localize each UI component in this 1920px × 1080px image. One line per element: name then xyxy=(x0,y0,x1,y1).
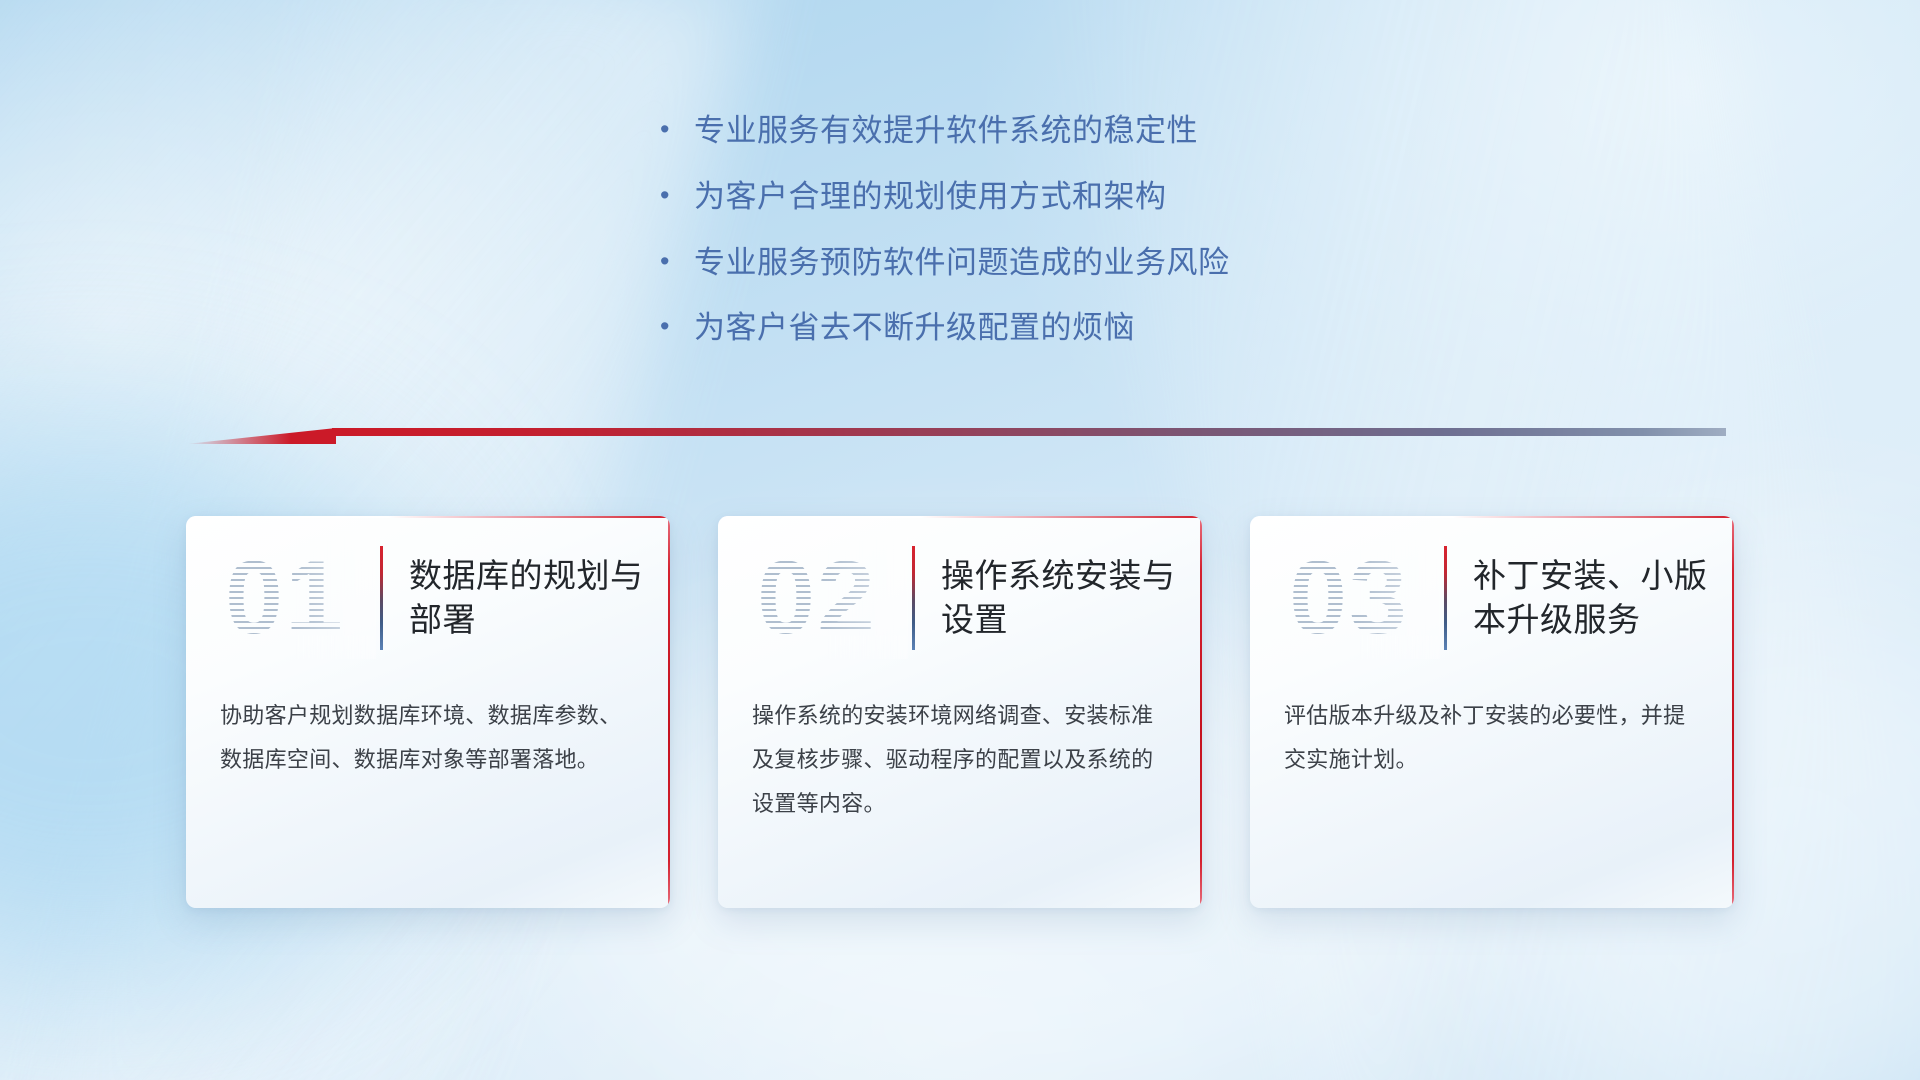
card-title-divider xyxy=(380,546,383,650)
card-number-watermark: 01 xyxy=(194,537,376,659)
bullet-text: 为客户合理的规划使用方式和架构 xyxy=(694,178,1167,217)
bullet-dot-icon: • xyxy=(660,313,694,340)
bullet-item: • 为客户合理的规划使用方式和架构 xyxy=(660,178,1480,217)
bullet-dot-icon: • xyxy=(660,248,694,275)
bullet-item: • 为客户省去不断升级配置的烦恼 xyxy=(660,309,1480,348)
divider-body xyxy=(332,428,1726,436)
card-title: 数据库的规划与部署 xyxy=(409,554,644,641)
card-title-divider xyxy=(1444,546,1447,650)
service-card-03[interactable]: 03 补丁安装、小版本升级服务 评估版本升级及补丁安装的必要性，并提交实施计划。 xyxy=(1250,516,1734,908)
bullet-text: 专业服务预防软件问题造成的业务风险 xyxy=(694,244,1230,283)
card-body-text: 协助客户规划数据库环境、数据库参数、数据库空间、数据库对象等部署落地。 xyxy=(186,666,670,782)
card-title: 操作系统安装与设置 xyxy=(941,554,1176,641)
bullet-dot-icon: • xyxy=(660,116,694,143)
card-number-watermark: 03 xyxy=(1258,537,1440,659)
card-header: 03 补丁安装、小版本升级服务 xyxy=(1250,516,1734,666)
card-header: 01 数据库的规划与部署 xyxy=(186,516,670,666)
card-body-text: 评估版本升级及补丁安装的必要性，并提交实施计划。 xyxy=(1250,666,1734,782)
card-row: 01 数据库的规划与部署 协助客户规划数据库环境、数据库参数、数据库空间、数据库… xyxy=(186,516,1734,916)
card-number-watermark: 02 xyxy=(726,537,908,659)
bullet-list: • 专业服务有效提升软件系统的稳定性 • 为客户合理的规划使用方式和架构 • 专… xyxy=(660,112,1480,375)
bullet-item: • 专业服务预防软件问题造成的业务风险 xyxy=(660,244,1480,283)
card-body-text: 操作系统的安装环境网络调查、安装标准及复核步骤、驱动程序的配置以及系统的设置等内… xyxy=(718,666,1202,826)
card-header: 02 操作系统安装与设置 xyxy=(718,516,1202,666)
bullet-dot-icon: • xyxy=(660,182,694,209)
card-title-divider xyxy=(912,546,915,650)
slide-canvas: • 专业服务有效提升软件系统的稳定性 • 为客户合理的规划使用方式和架构 • 专… xyxy=(0,0,1920,1080)
service-card-02[interactable]: 02 操作系统安装与设置 操作系统的安装环境网络调查、安装标准及复核步骤、驱动程… xyxy=(718,516,1202,908)
bullet-item: • 专业服务有效提升软件系统的稳定性 xyxy=(660,112,1480,151)
card-title: 补丁安装、小版本升级服务 xyxy=(1473,554,1708,641)
section-divider-line xyxy=(186,428,1726,444)
bullet-text: 为客户省去不断升级配置的烦恼 xyxy=(694,309,1135,348)
bullet-text: 专业服务有效提升软件系统的稳定性 xyxy=(694,112,1198,151)
service-card-01[interactable]: 01 数据库的规划与部署 协助客户规划数据库环境、数据库参数、数据库空间、数据库… xyxy=(186,516,670,908)
divider-taper xyxy=(186,428,336,444)
